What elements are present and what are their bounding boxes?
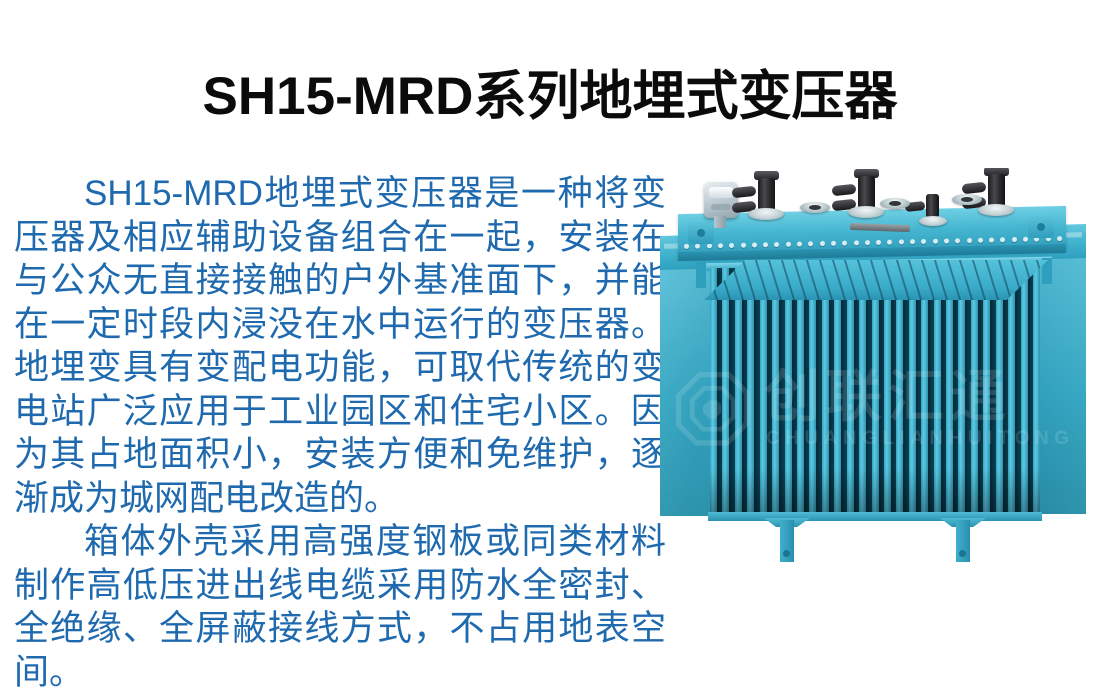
radiator-fin-groove (998, 260, 1012, 300)
description-paragraph-2: 箱体外壳采用高强度钢板或同类材料制作高低压进出线电缆采用防水全密封、全绝缘、全屏… (14, 520, 666, 694)
lid-bolt (978, 238, 983, 243)
lid-bolt (707, 243, 712, 248)
bushing-arm-upper (962, 182, 987, 194)
lifting-lug-right (1028, 216, 1054, 238)
lid-bolt (820, 241, 825, 246)
radiator-fin-groove (934, 260, 948, 300)
flange-cap-3 (952, 194, 982, 205)
bushing-flange (848, 206, 884, 218)
bushing-post (926, 194, 939, 218)
bushing-post (988, 174, 1005, 208)
bushing-flange (748, 208, 784, 220)
lid-bolt (887, 240, 892, 245)
bushing-post (758, 178, 775, 212)
lid-bolt (899, 239, 904, 244)
bushing-post (858, 176, 875, 210)
lid-bolt (1057, 236, 1062, 241)
lid-bolt (865, 240, 870, 245)
rail-end-left (696, 262, 706, 288)
radiator-fin-groove (883, 260, 897, 300)
product-description: SH15-MRD地埋式变压器是一种将变压器及相应辅助设备组合在一起，安装在与公众… (14, 172, 666, 694)
lid-bolt (842, 241, 847, 246)
lid-bolt (967, 238, 972, 243)
page-title: SH15-MRD系列地埋式变压器 (0, 62, 1100, 132)
lid-bolt (944, 238, 949, 243)
lid-bolt (684, 244, 689, 249)
lifting-lug-left (688, 222, 714, 244)
radiator-fin-groove (959, 260, 973, 300)
radiator-fin-groove (985, 260, 999, 300)
product-info-banner: SH15-MRD系列地埋式变压器 SH15-MRD地埋式变压器是一种将变压器及相… (0, 0, 1100, 651)
radiator-fin-groove (972, 260, 986, 300)
radiator-fin-groove (870, 260, 884, 300)
lid-bolt (989, 237, 994, 242)
bushing-arm-upper (732, 186, 757, 198)
lid-bolt (752, 242, 757, 247)
radiator-fin-groove (780, 260, 794, 300)
mounting-foot-left (780, 520, 794, 562)
flange-cap-1 (800, 202, 830, 213)
radiator-fin-top-grooves (704, 260, 1048, 300)
lid-bolt (876, 240, 881, 245)
lid-bolt (729, 243, 734, 248)
lid-bolt (1023, 237, 1028, 242)
mounting-foot-right (956, 520, 970, 562)
radiator-fin-groove (921, 260, 935, 300)
lid-bolt (718, 243, 723, 248)
lid-bolt (955, 238, 960, 243)
product-image: 创联汇通 CHUANGLIANHUITONG (652, 168, 1098, 614)
lid-bolt (831, 241, 836, 246)
radiator-bottom-shadow (710, 468, 1040, 516)
lid-bolt (808, 241, 813, 246)
radiator-fin-groove (768, 260, 782, 300)
radiator-fin-groove (793, 260, 807, 300)
gas-relay-neck (714, 216, 726, 228)
lid-bolt (774, 242, 779, 247)
bushing-arm-upper (832, 184, 857, 196)
bushing-flange (919, 216, 947, 226)
lid-bolt (786, 242, 791, 247)
gas-relay-box (704, 182, 738, 218)
radiator-fin-groove (806, 260, 820, 300)
lid-bolt (695, 244, 700, 249)
bushing-flange (978, 204, 1014, 216)
lid-bolt (741, 243, 746, 248)
lid-bolt (763, 242, 768, 247)
radiator-fin-groove (895, 260, 909, 300)
description-paragraph-1: SH15-MRD地埋式变压器是一种将变压器及相应辅助设备组合在一起，安装在与公众… (14, 172, 666, 520)
radiator-fin-groove (844, 260, 858, 300)
lid-bolt (1012, 237, 1017, 242)
lid-bolt (910, 239, 915, 244)
lid-bolt (854, 240, 859, 245)
lid-bolt (933, 239, 938, 244)
radiator-fin-groove (832, 260, 846, 300)
lid-bolt (1000, 237, 1005, 242)
radiator-fin-groove (908, 260, 922, 300)
radiator-fin-groove (755, 260, 769, 300)
radiator-fin-groove (819, 260, 833, 300)
lid-bolt (921, 239, 926, 244)
radiator-fin-groove (946, 260, 960, 300)
radiator-fin-groove (857, 260, 871, 300)
lid-bolt (797, 241, 802, 246)
radiator-fin-groove (742, 260, 756, 300)
radiator-base-rail (708, 512, 1042, 521)
flange-cap-2 (880, 198, 910, 209)
